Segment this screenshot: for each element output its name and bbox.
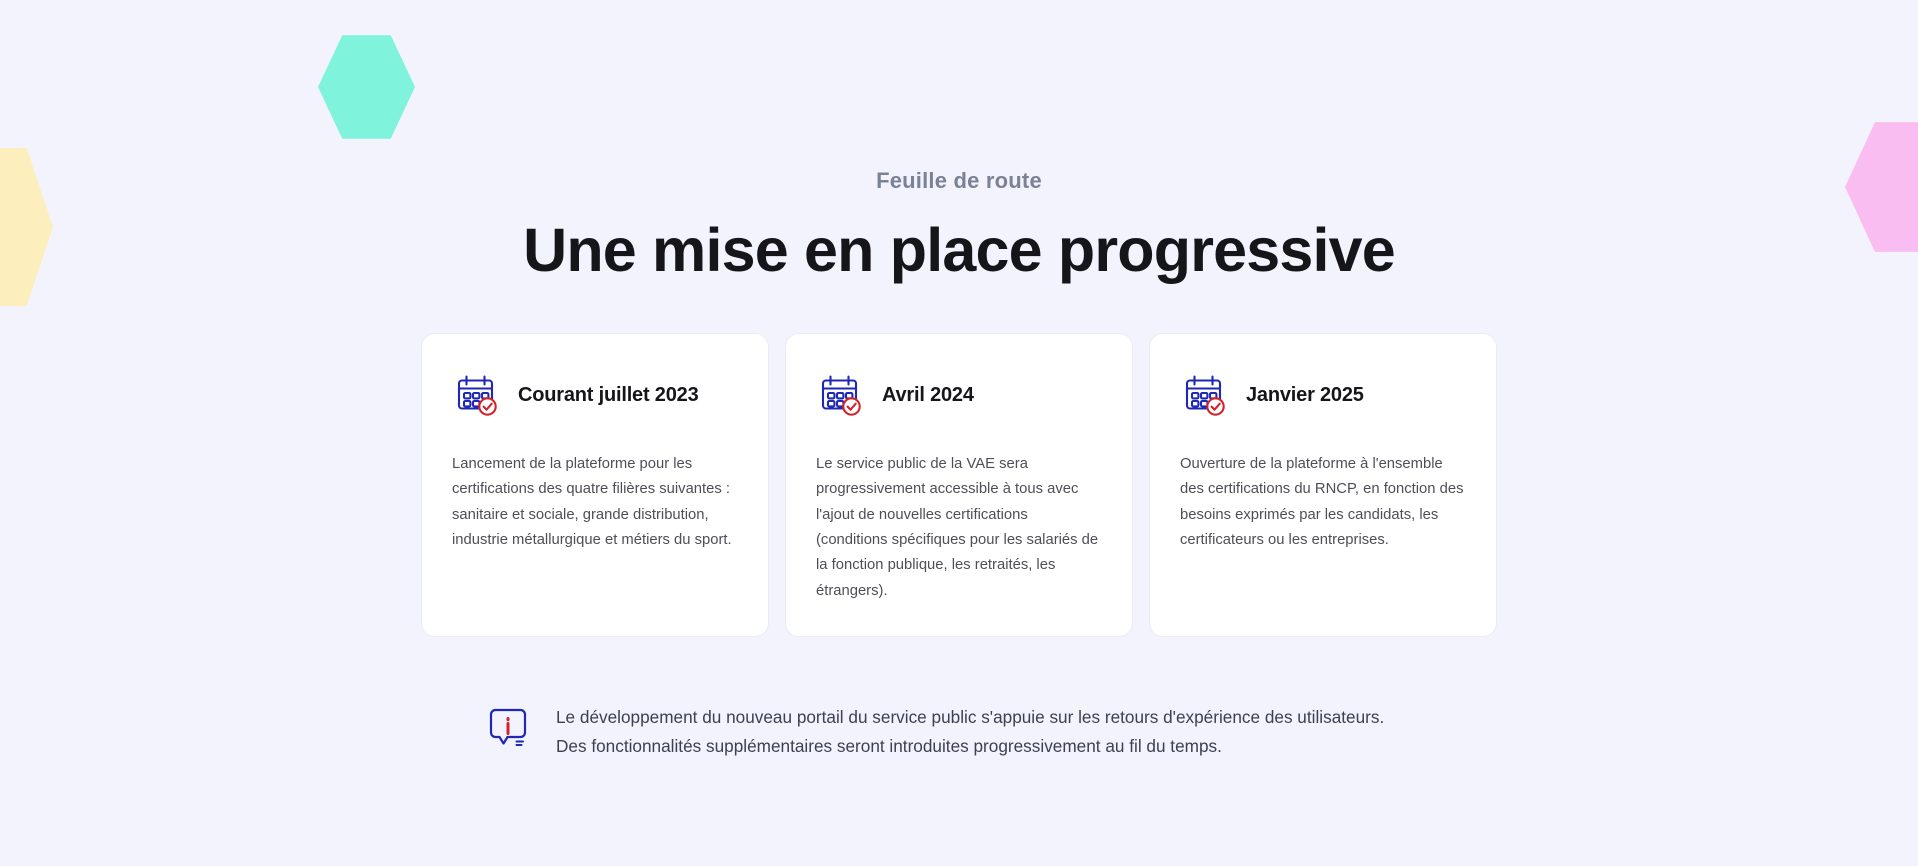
calendar-check-icon — [1180, 370, 1232, 422]
timeline-card: Courant juillet 2023 Lancement de la pla… — [421, 333, 769, 638]
info-bubble-icon — [482, 701, 534, 753]
card-body-text: Ouverture de la plateforme à l'ensemble … — [1180, 452, 1466, 554]
card-header: Courant juillet 2023 — [452, 370, 738, 422]
content-container: Feuille de route Une mise en place progr… — [0, 0, 1918, 760]
section-eyebrow: Feuille de route — [0, 168, 1918, 194]
calendar-check-icon — [816, 370, 868, 422]
page-root: Feuille de route Une mise en place progr… — [0, 0, 1918, 866]
info-note-line-2: Des fonctionnalités supplémentaires sero… — [556, 732, 1384, 760]
card-title: Courant juillet 2023 — [518, 384, 699, 407]
card-title: Janvier 2025 — [1246, 384, 1364, 407]
timeline-card-list: Courant juillet 2023 Lancement de la pla… — [0, 333, 1918, 638]
card-body-text: Lancement de la plateforme pour les cert… — [452, 452, 738, 554]
info-note-text: Le développement du nouveau portail du s… — [556, 699, 1384, 759]
info-note: Le développement du nouveau portail du s… — [454, 699, 1464, 759]
timeline-card: Avril 2024 Le service public de la VAE s… — [785, 333, 1133, 638]
card-header: Avril 2024 — [816, 370, 1102, 422]
info-note-line-1: Le développement du nouveau portail du s… — [556, 703, 1384, 731]
section-header: Feuille de route Une mise en place progr… — [0, 0, 1918, 285]
timeline-card: Janvier 2025 Ouverture de la plateforme … — [1149, 333, 1497, 638]
card-header: Janvier 2025 — [1180, 370, 1466, 422]
card-title: Avril 2024 — [882, 384, 974, 407]
page-title: Une mise en place progressive — [0, 216, 1918, 284]
calendar-check-icon — [452, 370, 504, 422]
card-body-text: Le service public de la VAE sera progres… — [816, 452, 1102, 605]
